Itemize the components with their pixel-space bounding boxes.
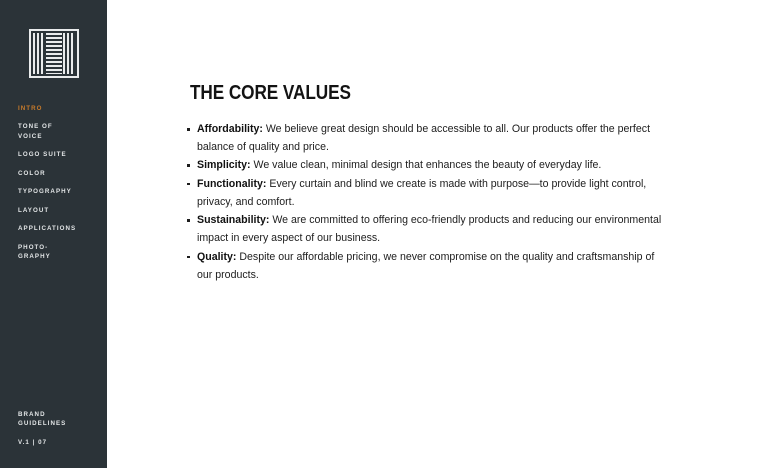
- page-title: THE CORE VALUES: [190, 82, 351, 105]
- bullet-icon: [187, 256, 190, 259]
- slide-canvas: INTRO TONE OF VOICE LOGO SUITE COLOR TYP…: [0, 0, 768, 468]
- sidebar-item-color[interactable]: COLOR: [18, 169, 108, 178]
- sidebar-footer: BRAND GUIDELINES V.1 | 07: [18, 410, 98, 446]
- logo-horizontal-stripes-middle: [46, 33, 62, 74]
- list-item: Quality: Despite our affordable pricing,…: [187, 248, 665, 284]
- footer-version-label: V.1 | 07: [18, 439, 98, 446]
- sidebar-item-tone-of-voice[interactable]: TONE OF VOICE: [18, 122, 108, 141]
- list-item: Functionality: Every curtain and blind w…: [187, 175, 665, 211]
- sidebar-item-photography[interactable]: PHOTO- GRAPHY: [18, 243, 108, 262]
- value-term: Functionality:: [197, 178, 266, 190]
- logo-vertical-stripes-left: [33, 33, 45, 74]
- logo-vertical-stripes-right: [63, 33, 75, 74]
- value-text: Despite our affordable pricing, we never…: [197, 251, 654, 281]
- value-text: We value clean, minimal design that enha…: [251, 159, 602, 171]
- sidebar: INTRO TONE OF VOICE LOGO SUITE COLOR TYP…: [0, 0, 107, 468]
- list-item: Affordability: We believe great design s…: [187, 120, 665, 156]
- core-values-list: Affordability: We believe great design s…: [187, 120, 665, 284]
- value-term: Affordability:: [197, 123, 263, 135]
- bullet-icon: [187, 164, 190, 167]
- bullet-icon: [187, 128, 190, 131]
- value-term: Sustainability:: [197, 214, 269, 226]
- value-term: Quality:: [197, 251, 236, 263]
- sidebar-item-intro[interactable]: INTRO: [18, 104, 108, 113]
- list-item: Simplicity: We value clean, minimal desi…: [187, 156, 665, 174]
- bullet-icon: [187, 183, 190, 186]
- sidebar-item-applications[interactable]: APPLICATIONS: [18, 224, 108, 233]
- list-item: Sustainability: We are committed to offe…: [187, 211, 665, 247]
- sidebar-item-logo-suite[interactable]: LOGO SUITE: [18, 150, 108, 159]
- footer-brand-guidelines-label: BRAND GUIDELINES: [18, 410, 98, 429]
- main-content: THE CORE VALUES Affordability: We believ…: [107, 0, 768, 468]
- sidebar-item-layout[interactable]: LAYOUT: [18, 206, 108, 215]
- brand-logo: [29, 29, 79, 78]
- value-text: We believe great design should be access…: [197, 123, 650, 153]
- sidebar-nav: INTRO TONE OF VOICE LOGO SUITE COLOR TYP…: [18, 104, 108, 270]
- sidebar-item-typography[interactable]: TYPOGRAPHY: [18, 187, 108, 196]
- value-term: Simplicity:: [197, 159, 251, 171]
- blinds-logo-icon: [29, 29, 79, 78]
- bullet-icon: [187, 219, 190, 222]
